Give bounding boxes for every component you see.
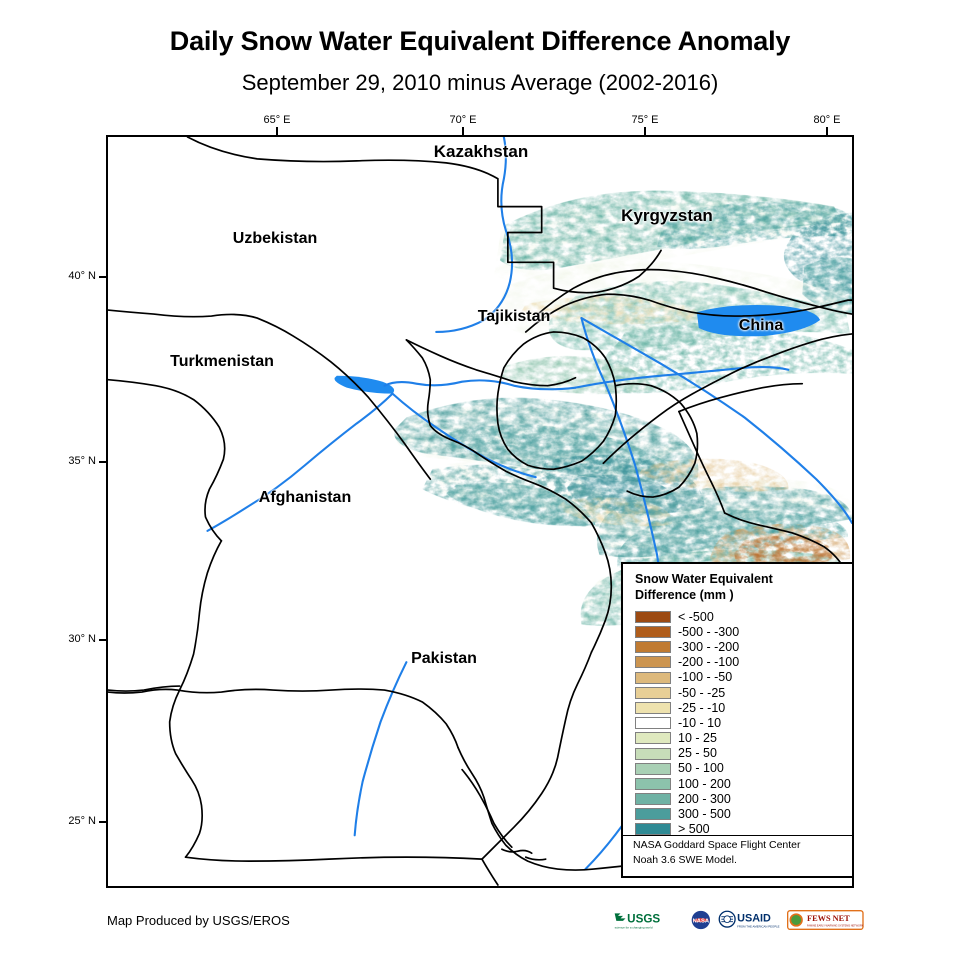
svg-text:USAID: USAID (737, 913, 771, 925)
svg-text:FEWS NET: FEWS NET (807, 914, 850, 923)
legend-row: 10 - 25 (633, 731, 842, 746)
legend-label: -500 - -300 (678, 626, 739, 639)
legend-swatch (635, 702, 671, 714)
svg-text:FROM THE AMERICAN PEOPLE: FROM THE AMERICAN PEOPLE (737, 924, 779, 928)
legend-row: 50 - 100 (633, 761, 842, 776)
legend-title-line1: Snow Water Equivalent (635, 572, 842, 588)
legend-swatch (635, 793, 671, 805)
legend-swatch (635, 656, 671, 668)
page-title: Daily Snow Water Equivalent Difference A… (0, 26, 960, 57)
legend-swatch (635, 611, 671, 623)
country-label-turkmenistan: Turkmenistan (170, 353, 274, 371)
legend-title: Snow Water Equivalent Difference (mm ) (635, 572, 842, 603)
lon-tick-label-70: 70° E (433, 114, 493, 126)
legend-label: -100 - -50 (678, 671, 732, 684)
legend-source-line1: NASA Goddard Space Flight Center (633, 838, 801, 853)
legend-label: 10 - 25 (678, 732, 717, 745)
legend-row: -300 - -200 (633, 640, 842, 655)
country-label-uzbekistan: Uzbekistan (233, 230, 317, 248)
legend-swatch (635, 641, 671, 653)
country-label-pakistan: Pakistan (411, 650, 477, 668)
svg-text:FAMINE EARLY WARNING SYSTEMS N: FAMINE EARLY WARNING SYSTEMS NETWORK (807, 925, 864, 928)
lat-tick-label-25: 25° N (48, 815, 96, 827)
legend-row: -10 - 10 (633, 716, 842, 731)
legend-row: -200 - -100 (633, 655, 842, 670)
legend-title-line2: Difference (mm ) (635, 588, 842, 604)
legend-swatch (635, 763, 671, 775)
legend-label: 300 - 500 (678, 808, 731, 821)
svg-text:USGS: USGS (627, 912, 660, 925)
page-subtitle: September 29, 2010 minus Average (2002-2… (0, 70, 960, 96)
legend-label: -50 - -25 (678, 687, 725, 700)
lon-tick-label-80: 80° E (797, 114, 857, 126)
legend-label: -300 - -200 (678, 641, 739, 654)
legend-source-line2: Noah 3.6 SWE Model. (633, 853, 801, 868)
legend-source-note: NASA Goddard Space Flight Center Noah 3.… (633, 838, 801, 868)
legend-row: -500 - -300 (633, 624, 842, 639)
legend-swatch (635, 687, 671, 699)
legend-label: 25 - 50 (678, 747, 717, 760)
legend-label: -200 - -100 (678, 656, 739, 669)
legend-row: < -500 (633, 609, 842, 624)
country-label-tajikistan: Tajikistan (478, 308, 551, 326)
legend-row: 100 - 200 (633, 776, 842, 791)
lon-tick-label-75: 75° E (615, 114, 675, 126)
legend-entries: < -500-500 - -300-300 - -200-200 - -100-… (633, 609, 842, 837)
usgs-logo: USGS science for a changing world (613, 910, 685, 930)
legend-swatch (635, 823, 671, 835)
legend-row: 25 - 50 (633, 746, 842, 761)
legend-label: < -500 (678, 611, 714, 624)
legend-label: 100 - 200 (678, 778, 731, 791)
legend-swatch (635, 748, 671, 760)
country-label-china: China (739, 317, 783, 335)
legend-swatch (635, 626, 671, 638)
legend-swatch (635, 808, 671, 820)
legend-swatch (635, 717, 671, 729)
legend-swatch (635, 732, 671, 744)
country-label-kazakhstan: Kazakhstan (434, 142, 528, 162)
lat-tick-label-40: 40° N (48, 270, 96, 282)
agency-logo-strip: USGS science for a changing world NASA U… (613, 909, 864, 931)
legend-row: 300 - 500 (633, 807, 842, 822)
legend-label: -10 - 10 (678, 717, 721, 730)
legend-row: -25 - -10 (633, 700, 842, 715)
legend-divider (623, 835, 852, 836)
legend-row: -50 - -25 (633, 685, 842, 700)
legend-label: > 500 (678, 823, 710, 836)
svg-text:NASA: NASA (693, 918, 710, 924)
map-legend[interactable]: Snow Water Equivalent Difference (mm ) <… (621, 562, 854, 878)
legend-label: 50 - 100 (678, 762, 724, 775)
fewsnet-logo: FEWS NET FAMINE EARLY WARNING SYSTEMS NE… (787, 910, 864, 930)
lat-tick-label-30: 30° N (48, 633, 96, 645)
usaid-logo: USAID FROM THE AMERICAN PEOPLE (718, 910, 781, 930)
country-label-afghanistan: Afghanistan (259, 489, 351, 507)
nasa-logo: NASA (690, 910, 712, 930)
svg-text:science for a changing world: science for a changing world (614, 925, 652, 929)
legend-swatch (635, 672, 671, 684)
country-label-kyrgyzstan: Kyrgyzstan (621, 206, 713, 226)
legend-row: -100 - -50 (633, 670, 842, 685)
lon-tick-label-65: 65° E (247, 114, 307, 126)
legend-label: -25 - -10 (678, 702, 725, 715)
legend-row: 200 - 300 (633, 792, 842, 807)
legend-swatch (635, 778, 671, 790)
footer-credit: Map Produced by USGS/EROS (107, 913, 290, 928)
lat-tick-label-35: 35° N (48, 455, 96, 467)
legend-label: 200 - 300 (678, 793, 731, 806)
